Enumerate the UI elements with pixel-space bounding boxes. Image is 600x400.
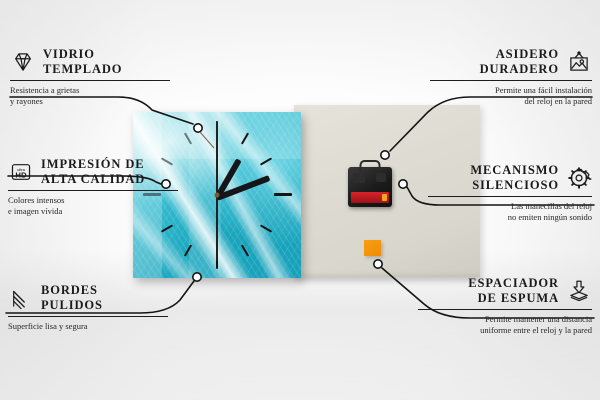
callout-title-line1: VIDRIO xyxy=(43,47,122,62)
callout-divider xyxy=(418,309,592,310)
callout-vidrio-templado[interactable]: VIDRIO TEMPLADO Resistencia a grietas y … xyxy=(10,47,170,106)
callout-header: ESPACIADOR DE ESPUMA xyxy=(418,276,592,305)
clock-center-hub xyxy=(215,193,220,198)
callout-desc-line1: Resistencia a grietas xyxy=(10,85,170,96)
callout-desc-line2: e imagen vívida xyxy=(8,206,178,217)
foam-spacer xyxy=(364,240,381,256)
callout-desc-line2: uniforme entre el reloj y la pared xyxy=(418,325,592,336)
callout-desc-line2: del reloj en la pared xyxy=(430,96,592,107)
callout-divider xyxy=(430,80,592,81)
gear-icon xyxy=(566,165,592,191)
arrow-onto-layers-icon xyxy=(566,278,592,304)
callout-desc-line1: Superficie lisa y segura xyxy=(8,321,168,332)
mechanism-detail-right xyxy=(376,173,386,182)
callout-title-line2: ALTA CALIDAD xyxy=(41,172,145,187)
callout-title-line1: MECANISMO xyxy=(470,163,559,178)
hanger-loop-icon xyxy=(360,160,381,172)
callout-title-line1: ASIDERO xyxy=(480,47,559,62)
callout-title-line2: TEMPLADO xyxy=(43,62,122,77)
callout-desc-line1: Las manecillas del reloj xyxy=(428,201,592,212)
callout-title-line1: IMPRESIÓN DE xyxy=(41,157,145,172)
ultra-hd-icon: ultra HD xyxy=(8,159,34,185)
callout-desc-line1: Colores intensos xyxy=(8,195,178,206)
callout-header: BORDES PULIDOS xyxy=(8,283,168,312)
callout-bordes-pulidos[interactable]: BORDES PULIDOS Superficie lisa y segura xyxy=(8,283,168,332)
diagonal-lines-icon xyxy=(8,285,34,311)
callout-header: ultra HD IMPRESIÓN DE ALTA CALIDAD xyxy=(8,157,178,186)
mechanism-detail-left xyxy=(353,173,365,183)
callout-title-line2: DE ESPUMA xyxy=(468,291,559,306)
callout-desc-line2: y rayones xyxy=(10,96,170,107)
callout-title-line1: BORDES xyxy=(41,283,103,298)
callout-asidero-duradero[interactable]: ASIDERO DURADERO Permite una fácil insta… xyxy=(430,47,592,106)
clock-mechanism xyxy=(348,167,392,207)
callout-divider xyxy=(8,316,168,317)
callout-title-line2: DURADERO xyxy=(480,62,559,77)
callout-header: VIDRIO TEMPLADO xyxy=(10,47,170,76)
framed-picture-icon xyxy=(566,49,592,75)
callout-mecanismo-silencioso[interactable]: MECANISMO SILENCIOSO Las manecillas del … xyxy=(428,163,592,222)
callout-desc-line2: no emiten ningún sonido xyxy=(428,212,592,223)
aa-battery xyxy=(351,192,389,203)
callout-title-line1: ESPACIADOR xyxy=(468,276,559,291)
clock-second-hand xyxy=(216,121,218,261)
callout-desc-line1: Permite mantener una distancia xyxy=(418,314,592,325)
callout-impresion-alta-calidad[interactable]: ultra HD IMPRESIÓN DE ALTA CALIDAD Color… xyxy=(8,157,178,216)
callout-title-line2: PULIDOS xyxy=(41,298,103,313)
callout-divider xyxy=(8,190,178,191)
svg-text:HD: HD xyxy=(15,170,27,179)
callout-header: ASIDERO DURADERO xyxy=(430,47,592,76)
callout-title-line2: SILENCIOSO xyxy=(470,178,559,193)
diamond-icon xyxy=(10,49,36,75)
callout-divider xyxy=(428,196,592,197)
clock-tick-3 xyxy=(274,193,292,196)
callout-desc-line1: Permite una fácil instalación xyxy=(430,85,592,96)
callout-espaciador-de-espuma[interactable]: ESPACIADOR DE ESPUMA Permite mantener un… xyxy=(418,276,592,335)
callout-header: MECANISMO SILENCIOSO xyxy=(428,163,592,192)
callout-divider xyxy=(10,80,170,81)
infographic-canvas: VIDRIO TEMPLADO Resistencia a grietas y … xyxy=(0,0,600,400)
